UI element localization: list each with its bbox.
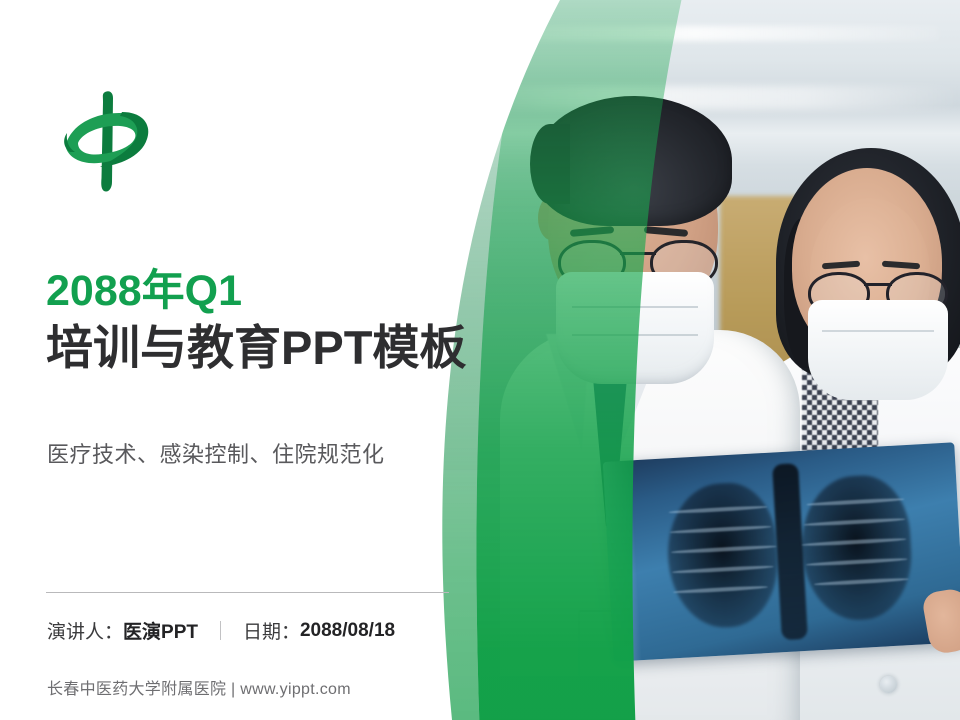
title-line-1: 2088年Q1 xyxy=(46,268,546,314)
meta-separator xyxy=(220,621,221,640)
male-doctor-hair xyxy=(536,96,732,226)
date-label: 日期： xyxy=(243,617,300,644)
glasses-bridge xyxy=(620,252,656,255)
footer-credit: 长春中医药大学附属医院 | www.yippt.com xyxy=(47,675,351,699)
presenter-meta: 演讲人： 医演PPT 日期： 2088/08/18 xyxy=(47,617,395,644)
title-block: 2088年Q1 培训与教育PPT模板 xyxy=(46,268,546,374)
footer-divider xyxy=(46,592,449,593)
xray-lung-right xyxy=(798,473,915,623)
title-line-2: 培训与教育PPT模板 xyxy=(46,322,546,374)
slide-content: 2088年Q1 培训与教育PPT模板 医疗技术、感染控制、住院规范化 演讲人： … xyxy=(0,0,560,720)
chest-xray-film xyxy=(603,442,960,661)
presenter-value: 医演PPT xyxy=(123,617,198,644)
glasses-bridge xyxy=(864,283,892,286)
hospital-logo-icon xyxy=(48,86,164,196)
male-doctor-face-mask xyxy=(556,272,714,384)
xray-spine xyxy=(772,463,808,640)
xray-lung-left xyxy=(664,481,781,631)
date-value: 2088/08/18 xyxy=(300,620,395,642)
female-doctor-face-mask xyxy=(808,300,948,400)
title-slide: 2088年Q1 培训与教育PPT模板 医疗技术、感染控制、住院规范化 演讲人： … xyxy=(0,0,960,720)
presenter-label: 演讲人： xyxy=(47,617,123,644)
coat-button xyxy=(880,676,897,693)
subtitle: 医疗技术、感染控制、住院规范化 xyxy=(47,437,385,469)
